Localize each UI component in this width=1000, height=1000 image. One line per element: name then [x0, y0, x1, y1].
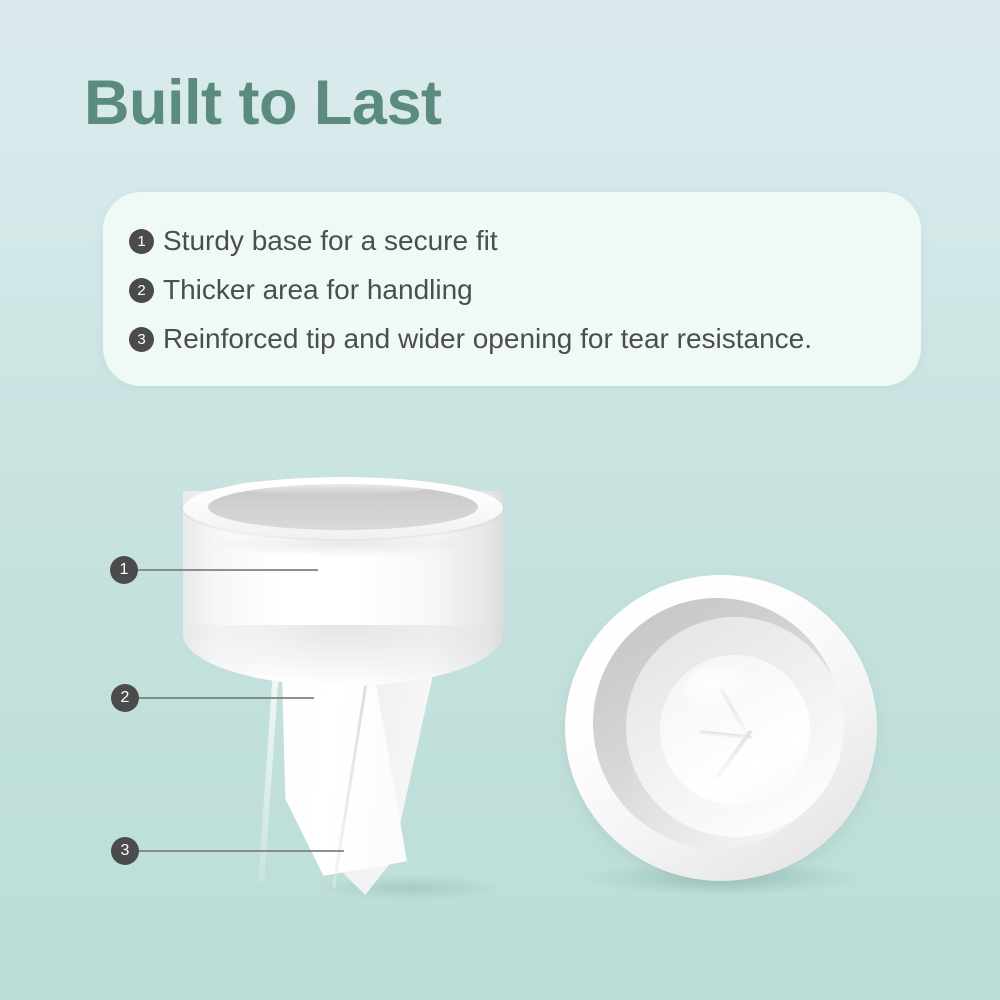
feature-text-2: Thicker area for handling — [163, 275, 473, 306]
page-title: Built to Last — [84, 70, 441, 136]
membrane-highlight — [684, 665, 754, 713]
list-item: 2 Thicker area for handling — [129, 266, 903, 315]
badge-number-2: 2 — [129, 278, 154, 303]
feature-list: 1 Sturdy base for a secure fit 2 Thicker… — [129, 217, 903, 364]
list-item: 3 Reinforced tip and wider opening for t… — [129, 315, 903, 364]
callout-marker-3: 3 — [111, 837, 344, 865]
feature-card: 1 Sturdy base for a secure fit 2 Thicker… — [103, 192, 921, 386]
badge-number-3: 3 — [129, 327, 154, 352]
callout-leader-line-1 — [138, 569, 318, 571]
valve-rim-gloss — [230, 479, 430, 495]
callout-leader-line-3 — [139, 850, 344, 852]
callout-dot-2: 2 — [111, 684, 139, 712]
callout-dot-1: 1 — [110, 556, 138, 584]
list-item: 1 Sturdy base for a secure fit — [129, 217, 903, 266]
callout-leader-line-2 — [139, 697, 314, 699]
badge-number-1: 1 — [129, 229, 154, 254]
feature-text-3: Reinforced tip and wider opening for tea… — [163, 324, 812, 355]
callout-dot-3: 3 — [111, 837, 139, 865]
callout-marker-1: 1 — [110, 556, 318, 584]
infographic-canvas: Built to Last 1 Sturdy base for a secure… — [0, 0, 1000, 1000]
feature-text-1: Sturdy base for a secure fit — [163, 226, 498, 257]
callout-marker-2: 2 — [111, 684, 314, 712]
product-image-valve-topdown — [560, 565, 885, 895]
